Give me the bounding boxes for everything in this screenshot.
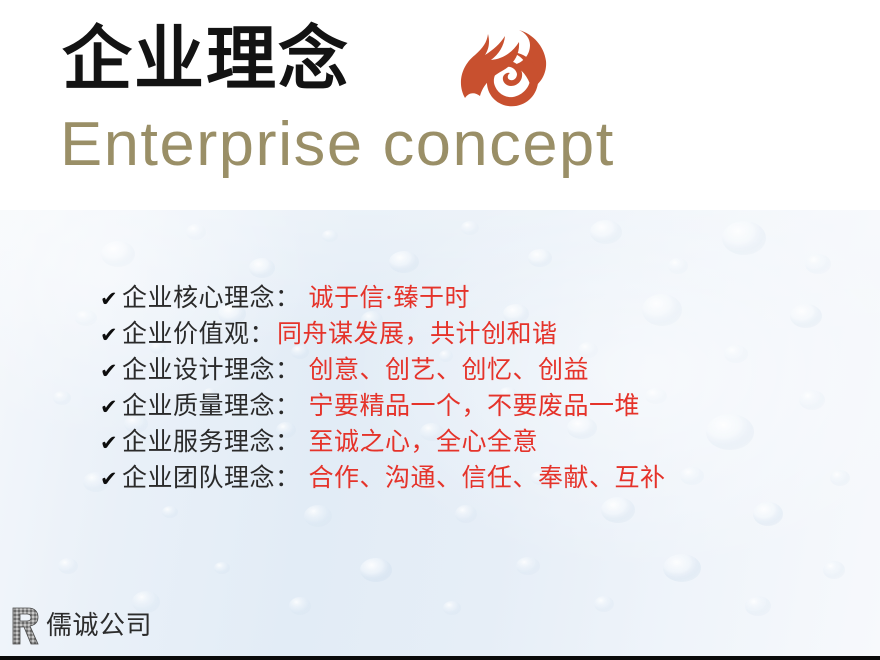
check-icon: ✔ xyxy=(100,461,122,497)
page-title-chinese: 企业理念 xyxy=(62,18,350,100)
bullet-value: 至诚之心，全心全意 xyxy=(309,424,539,460)
slide-header: 企业理念 Enterprise concept xyxy=(0,0,880,210)
letter-r-logo-icon xyxy=(10,606,40,646)
list-item: ✔ 企业设计理念： 创意、创艺、创忆、创益 xyxy=(100,352,840,388)
bullet-label: 企业价值观： xyxy=(122,316,275,352)
list-item: ✔ 企业核心理念： 诚于信·臻于时 xyxy=(100,280,840,316)
list-item: ✔ 企业质量理念： 宁要精品一个，不要废品一堆 xyxy=(100,388,840,424)
bullet-label: 企业团队理念： xyxy=(122,460,301,496)
list-item: ✔ 企业价值观： 同舟谋发展，共计创和谐 xyxy=(100,316,840,352)
concept-bullet-list: ✔ 企业核心理念： 诚于信·臻于时 ✔ 企业价值观： 同舟谋发展，共计创和谐 ✔… xyxy=(100,280,840,496)
slide-body: ✔ 企业核心理念： 诚于信·臻于时 ✔ 企业价值观： 同舟谋发展，共计创和谐 ✔… xyxy=(0,210,880,658)
page-subtitle-english: Enterprise concept xyxy=(60,108,615,182)
list-item: ✔ 企业团队理念： 合作、沟通、信任、奉献、互补 xyxy=(100,460,840,496)
bullet-value: 同舟谋发展，共计创和谐 xyxy=(277,316,558,352)
slide: 企业理念 Enterprise concept xyxy=(0,0,880,660)
list-item: ✔ 企业服务理念： 至诚之心，全心全意 xyxy=(100,424,840,460)
bullet-label: 企业核心理念： xyxy=(122,280,301,316)
slide-footer: 儒诚公司 xyxy=(0,598,880,660)
check-icon: ✔ xyxy=(100,317,122,353)
bullet-label: 企业质量理念： xyxy=(122,388,301,424)
bullet-value: 宁要精品一个，不要废品一堆 xyxy=(309,388,641,424)
company-logo: 儒诚公司 xyxy=(10,604,152,648)
bullet-label: 企业设计理念： xyxy=(122,352,301,388)
bullet-label: 企业服务理念： xyxy=(122,424,301,460)
check-icon: ✔ xyxy=(100,281,122,317)
bullet-value: 创意、创艺、创忆、创益 xyxy=(309,352,590,388)
check-icon: ✔ xyxy=(100,425,122,461)
bullet-value: 诚于信·臻于时 xyxy=(309,280,470,316)
check-icon: ✔ xyxy=(100,353,122,389)
footer-divider xyxy=(0,656,880,660)
check-icon: ✔ xyxy=(100,389,122,425)
flame-swirl-icon xyxy=(447,22,557,112)
company-name: 儒诚公司 xyxy=(46,611,152,641)
bullet-value: 合作、沟通、信任、奉献、互补 xyxy=(309,460,666,496)
